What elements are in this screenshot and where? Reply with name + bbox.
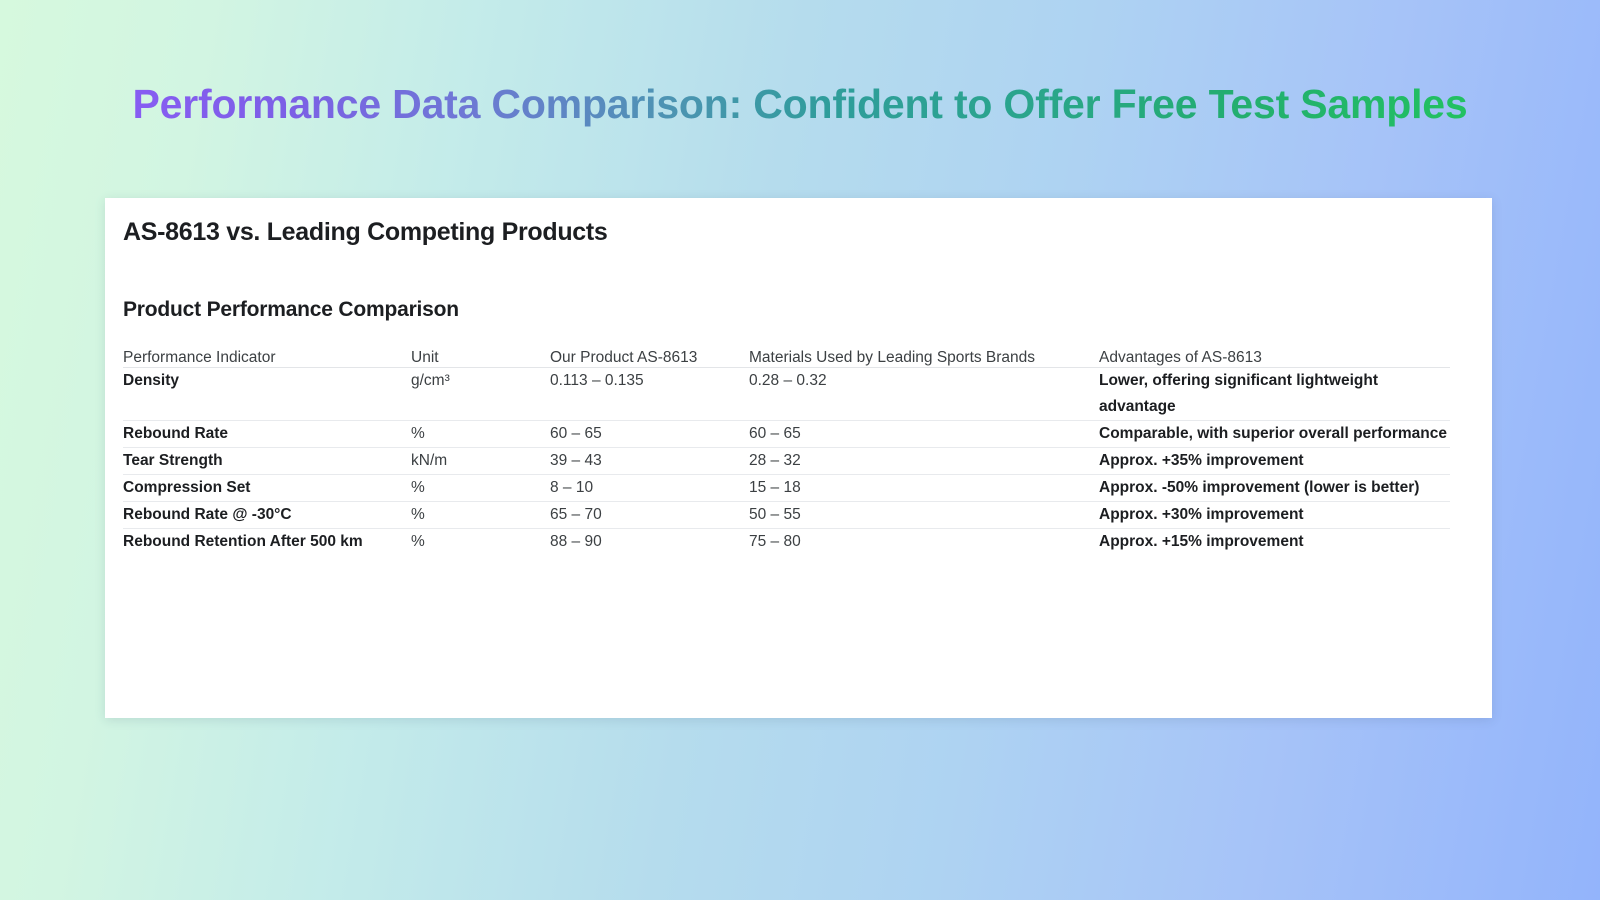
cell-unit: % bbox=[411, 502, 550, 529]
comparison-card: AS-8613 vs. Leading Competing Products P… bbox=[105, 198, 1492, 718]
cell-theirs: 28 – 32 bbox=[749, 448, 1099, 475]
card-heading: AS-8613 vs. Leading Competing Products bbox=[123, 218, 1464, 247]
table-row: Density g/cm³ 0.113 – 0.135 0.28 – 0.32 … bbox=[123, 368, 1450, 421]
cell-indicator: Density bbox=[123, 368, 411, 421]
page-title: Performance Data Comparison: Confident t… bbox=[88, 78, 1512, 130]
cell-unit: % bbox=[411, 529, 550, 556]
cell-theirs: 50 – 55 bbox=[749, 502, 1099, 529]
cell-advantage: Comparable, with superior overall perfor… bbox=[1099, 421, 1450, 448]
cell-advantage: Approx. -50% improvement (lower is bette… bbox=[1099, 475, 1450, 502]
cell-advantage: Approx. +15% improvement bbox=[1099, 529, 1450, 556]
cell-indicator: Rebound Retention After 500 km bbox=[123, 529, 411, 556]
cell-theirs: 15 – 18 bbox=[749, 475, 1099, 502]
cell-unit: g/cm³ bbox=[411, 368, 550, 421]
table-header-row: Performance Indicator Unit Our Product A… bbox=[123, 349, 1450, 368]
table-row: Compression Set % 8 – 10 15 – 18 Approx.… bbox=[123, 475, 1450, 502]
table-body: Density g/cm³ 0.113 – 0.135 0.28 – 0.32 … bbox=[123, 368, 1450, 556]
performance-comparison-table: Performance Indicator Unit Our Product A… bbox=[123, 349, 1450, 555]
cell-indicator: Compression Set bbox=[123, 475, 411, 502]
cell-indicator: Rebound Rate @ -30°C bbox=[123, 502, 411, 529]
cell-advantage: Lower, offering significant lightweight … bbox=[1099, 368, 1450, 421]
table-row: Rebound Retention After 500 km % 88 – 90… bbox=[123, 529, 1450, 556]
cell-indicator: Tear Strength bbox=[123, 448, 411, 475]
table-header: Performance Indicator Unit Our Product A… bbox=[123, 349, 1450, 368]
column-header-indicator: Performance Indicator bbox=[123, 349, 411, 368]
column-header-our-product: Our Product AS-8613 bbox=[550, 349, 749, 368]
column-header-competitor: Materials Used by Leading Sports Brands bbox=[749, 349, 1099, 368]
cell-ours: 8 – 10 bbox=[550, 475, 749, 502]
column-header-advantages: Advantages of AS-8613 bbox=[1099, 349, 1450, 368]
cell-advantage: Approx. +35% improvement bbox=[1099, 448, 1450, 475]
table-row: Tear Strength kN/m 39 – 43 28 – 32 Appro… bbox=[123, 448, 1450, 475]
section-heading: Product Performance Comparison bbox=[123, 298, 1464, 322]
table-row: Rebound Rate % 60 – 65 60 – 65 Comparabl… bbox=[123, 421, 1450, 448]
cell-theirs: 75 – 80 bbox=[749, 529, 1099, 556]
cell-theirs: 60 – 65 bbox=[749, 421, 1099, 448]
cell-ours: 88 – 90 bbox=[550, 529, 749, 556]
cell-ours: 65 – 70 bbox=[550, 502, 749, 529]
cell-theirs: 0.28 – 0.32 bbox=[749, 368, 1099, 421]
table-row: Rebound Rate @ -30°C % 65 – 70 50 – 55 A… bbox=[123, 502, 1450, 529]
cell-unit: % bbox=[411, 421, 550, 448]
cell-ours: 39 – 43 bbox=[550, 448, 749, 475]
cell-unit: kN/m bbox=[411, 448, 550, 475]
column-header-unit: Unit bbox=[411, 349, 550, 368]
cell-ours: 0.113 – 0.135 bbox=[550, 368, 749, 421]
cell-indicator: Rebound Rate bbox=[123, 421, 411, 448]
cell-advantage: Approx. +30% improvement bbox=[1099, 502, 1450, 529]
cell-unit: % bbox=[411, 475, 550, 502]
cell-ours: 60 – 65 bbox=[550, 421, 749, 448]
